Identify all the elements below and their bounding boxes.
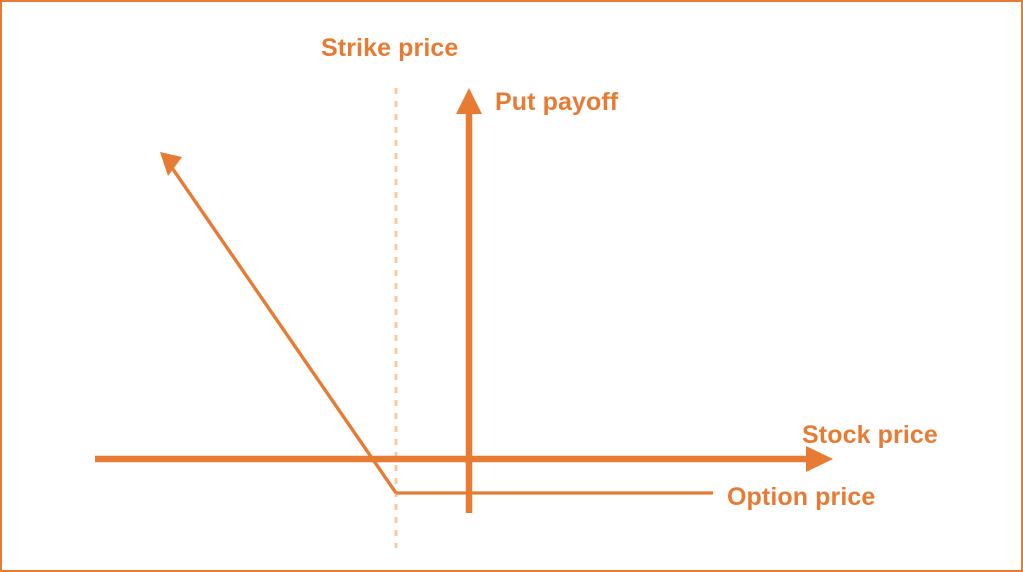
y-axis-arrowhead-icon <box>456 88 482 114</box>
stock-price-label: Stock price <box>802 421 938 449</box>
option-price-label: Option price <box>727 483 875 511</box>
x-axis-arrowhead-icon <box>806 446 833 472</box>
strike-price-label: Strike price <box>321 34 458 62</box>
put-payoff-arrowhead-icon <box>160 152 182 176</box>
put-payoff-diagram: Strike price Put payoff Stock price Opti… <box>0 0 1023 572</box>
put-payoff-curve <box>168 162 396 493</box>
put-payoff-label: Put payoff <box>495 88 618 116</box>
